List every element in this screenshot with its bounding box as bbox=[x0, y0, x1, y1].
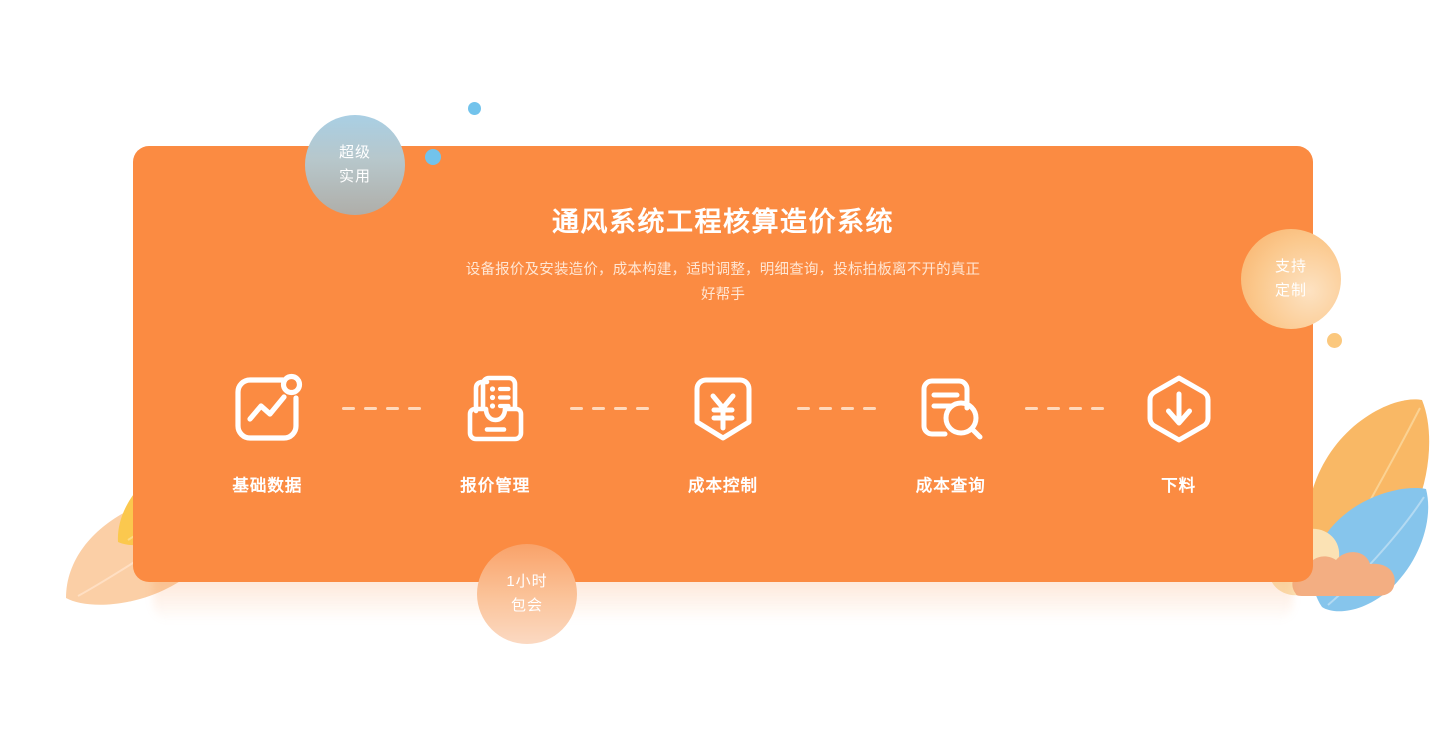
badge-line-1: 超级 bbox=[339, 141, 371, 165]
page-subtitle: 设备报价及安装造价，成本构建，适时调整，明细查询，投标拍板离不开的真正好帮手 bbox=[463, 258, 983, 308]
feature-item-basic-data[interactable]: 基础数据 bbox=[193, 368, 342, 496]
orange-dot-icon bbox=[1327, 333, 1342, 348]
feature-label: 报价管理 bbox=[460, 472, 530, 496]
badge-line-2: 定制 bbox=[1275, 279, 1307, 303]
badge-support-customization: 支持 定制 bbox=[1241, 229, 1341, 329]
connector-dashes-3 bbox=[797, 407, 876, 410]
document-search-icon bbox=[910, 368, 992, 450]
connector-dashes-2 bbox=[570, 407, 649, 410]
feature-list: 基础数据 bbox=[193, 368, 1253, 496]
feature-item-quote-management[interactable]: 报价管理 bbox=[421, 368, 570, 496]
badge-line-1: 1小时 bbox=[506, 570, 547, 594]
badge-line-2: 包会 bbox=[511, 594, 543, 618]
badge-one-hour-training: 1小时 包会 bbox=[477, 544, 577, 644]
feature-item-cost-query[interactable]: 成本查询 bbox=[876, 368, 1025, 496]
main-card: 通风系统工程核算造价系统 设备报价及安装造价，成本构建，适时调整，明细查询，投标… bbox=[133, 146, 1313, 582]
leaf-right-blue-icon bbox=[1308, 485, 1438, 615]
feature-label: 基础数据 bbox=[232, 472, 302, 496]
inbox-document-icon bbox=[454, 368, 536, 450]
hexagon-download-icon bbox=[1138, 368, 1220, 450]
page-title: 通风系统工程核算造价系统 bbox=[133, 206, 1313, 238]
feature-item-cutting[interactable]: 下料 bbox=[1104, 368, 1253, 496]
feature-label: 成本控制 bbox=[688, 472, 758, 496]
connector-dashes-4 bbox=[1025, 407, 1104, 410]
promo-banner: 通风系统工程核算造价系统 设备报价及安装造价，成本构建，适时调整，明细查询，投标… bbox=[0, 0, 1440, 730]
blue-dot-upper-icon bbox=[468, 102, 481, 115]
badge-super-practical: 超级 实用 bbox=[305, 115, 405, 215]
feature-item-cost-control[interactable]: 成本控制 bbox=[649, 368, 798, 496]
chart-data-icon bbox=[226, 368, 308, 450]
feature-label: 成本查询 bbox=[916, 472, 986, 496]
heading-block: 通风系统工程核算造价系统 设备报价及安装造价，成本构建，适时调整，明细查询，投标… bbox=[133, 206, 1313, 308]
badge-line-1: 支持 bbox=[1275, 255, 1307, 279]
blue-dot-lower-icon bbox=[425, 149, 441, 165]
leaf-right-amber-icon bbox=[1300, 398, 1440, 588]
yuan-shield-icon bbox=[682, 368, 764, 450]
feature-label: 下料 bbox=[1161, 472, 1196, 496]
badge-line-2: 实用 bbox=[339, 165, 371, 189]
connector-dashes-1 bbox=[342, 407, 421, 410]
